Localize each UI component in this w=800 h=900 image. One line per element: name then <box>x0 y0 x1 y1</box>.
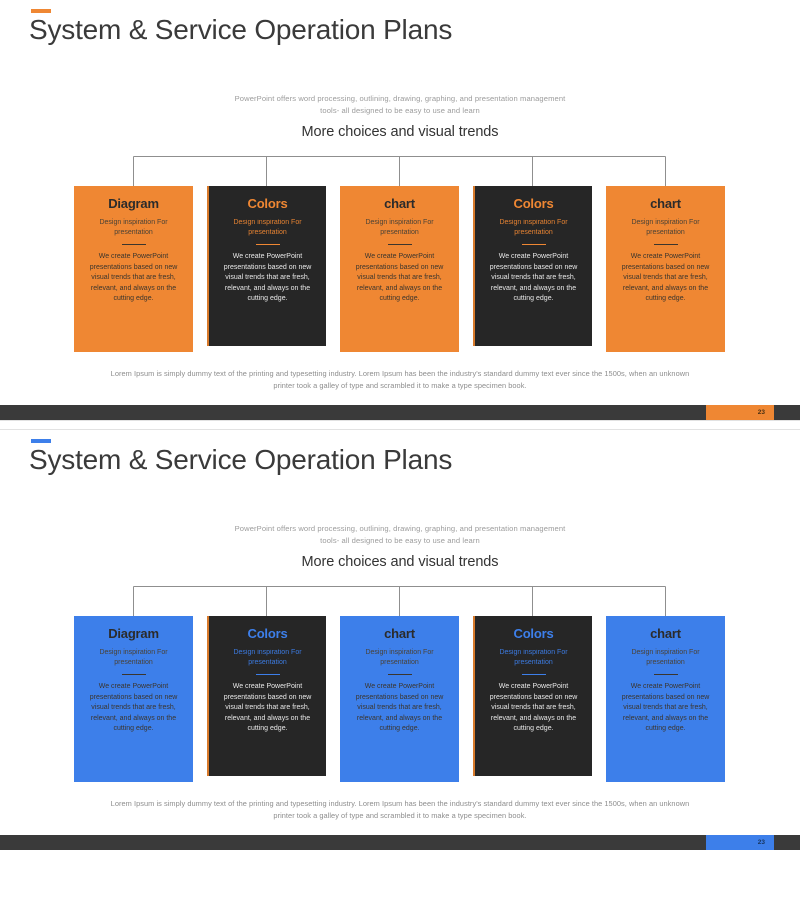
card-divider <box>122 674 146 675</box>
card-title: Colors <box>483 196 584 211</box>
card-divider <box>654 674 678 675</box>
card-title: chart <box>614 626 717 641</box>
card-connector-bracket <box>0 155 800 187</box>
card-3[interactable]: chartDesign inspiration For presentation… <box>340 616 459 782</box>
slide-blue: System & Service Operation PlansPowerPoi… <box>0 430 800 850</box>
card-subtitle: Design inspiration For presentation <box>348 648 451 668</box>
card-divider <box>654 244 678 245</box>
intro-paragraph: PowerPoint offers word processing, outli… <box>230 93 570 117</box>
footnote-paragraph: Lorem Ipsum is simply dummy text of the … <box>100 368 700 391</box>
card-body-text: We create PowerPoint presentations based… <box>217 682 318 735</box>
card-subtitle: Design inspiration For presentation <box>483 648 584 668</box>
card-body-text: We create PowerPoint presentations based… <box>483 252 584 305</box>
card-body-text: We create PowerPoint presentations based… <box>614 252 717 305</box>
card-row: DiagramDesign inspiration For presentati… <box>74 616 726 786</box>
card-body-text: We create PowerPoint presentations based… <box>348 682 451 735</box>
card-body-text: We create PowerPoint presentations based… <box>82 252 185 305</box>
slide-separator <box>0 420 800 430</box>
card-connector-bracket <box>0 585 800 617</box>
card-divider <box>522 674 546 675</box>
card-subtitle: Design inspiration For presentation <box>217 648 318 668</box>
card-subtitle: Design inspiration For presentation <box>82 648 185 668</box>
card-title: chart <box>348 196 451 211</box>
slide-bottom-bar: 23 <box>0 835 800 850</box>
card-divider <box>122 244 146 245</box>
card-body-text: We create PowerPoint presentations based… <box>614 682 717 735</box>
card-title: Colors <box>483 626 584 641</box>
section-headline: More choices and visual trends <box>200 124 600 140</box>
section-headline: More choices and visual trends <box>200 554 600 570</box>
card-subtitle: Design inspiration For presentation <box>614 218 717 238</box>
card-subtitle: Design inspiration For presentation <box>217 218 318 238</box>
card-title: Colors <box>217 196 318 211</box>
card-subtitle: Design inspiration For presentation <box>82 218 185 238</box>
footnote-paragraph: Lorem Ipsum is simply dummy text of the … <box>100 798 700 821</box>
card-5[interactable]: chartDesign inspiration For presentation… <box>606 186 725 352</box>
card-divider <box>256 674 280 675</box>
card-5[interactable]: chartDesign inspiration For presentation… <box>606 616 725 782</box>
intro-paragraph: PowerPoint offers word processing, outli… <box>230 523 570 547</box>
card-divider <box>388 244 412 245</box>
card-row: DiagramDesign inspiration For presentati… <box>74 186 726 356</box>
card-1[interactable]: DiagramDesign inspiration For presentati… <box>74 616 193 782</box>
slide-bottom-bar: 23 <box>0 405 800 420</box>
card-3[interactable]: chartDesign inspiration For presentation… <box>340 186 459 352</box>
title-accent-bar <box>31 439 51 443</box>
page-number-badge: 23 <box>706 405 774 420</box>
card-body-text: We create PowerPoint presentations based… <box>348 252 451 305</box>
page-title: System & Service Operation Plans <box>29 14 452 46</box>
card-divider <box>388 674 412 675</box>
card-subtitle: Design inspiration For presentation <box>348 218 451 238</box>
card-4[interactable]: ColorsDesign inspiration For presentatio… <box>473 186 592 346</box>
page-title: System & Service Operation Plans <box>29 444 452 476</box>
card-body-text: We create PowerPoint presentations based… <box>483 682 584 735</box>
card-body-text: We create PowerPoint presentations based… <box>82 682 185 735</box>
card-title: Colors <box>217 626 318 641</box>
card-divider <box>256 244 280 245</box>
card-subtitle: Design inspiration For presentation <box>483 218 584 238</box>
card-title: Diagram <box>82 196 185 211</box>
slide-deck: System & Service Operation PlansPowerPoi… <box>0 0 800 850</box>
slide-orange: System & Service Operation PlansPowerPoi… <box>0 0 800 420</box>
card-4[interactable]: ColorsDesign inspiration For presentatio… <box>473 616 592 776</box>
card-divider <box>522 244 546 245</box>
card-title: Diagram <box>82 626 185 641</box>
card-body-text: We create PowerPoint presentations based… <box>217 252 318 305</box>
card-2[interactable]: ColorsDesign inspiration For presentatio… <box>207 186 326 346</box>
card-subtitle: Design inspiration For presentation <box>614 648 717 668</box>
page-number-badge: 23 <box>706 835 774 850</box>
card-title: chart <box>614 196 717 211</box>
title-accent-bar <box>31 9 51 13</box>
card-2[interactable]: ColorsDesign inspiration For presentatio… <box>207 616 326 776</box>
card-1[interactable]: DiagramDesign inspiration For presentati… <box>74 186 193 352</box>
card-title: chart <box>348 626 451 641</box>
